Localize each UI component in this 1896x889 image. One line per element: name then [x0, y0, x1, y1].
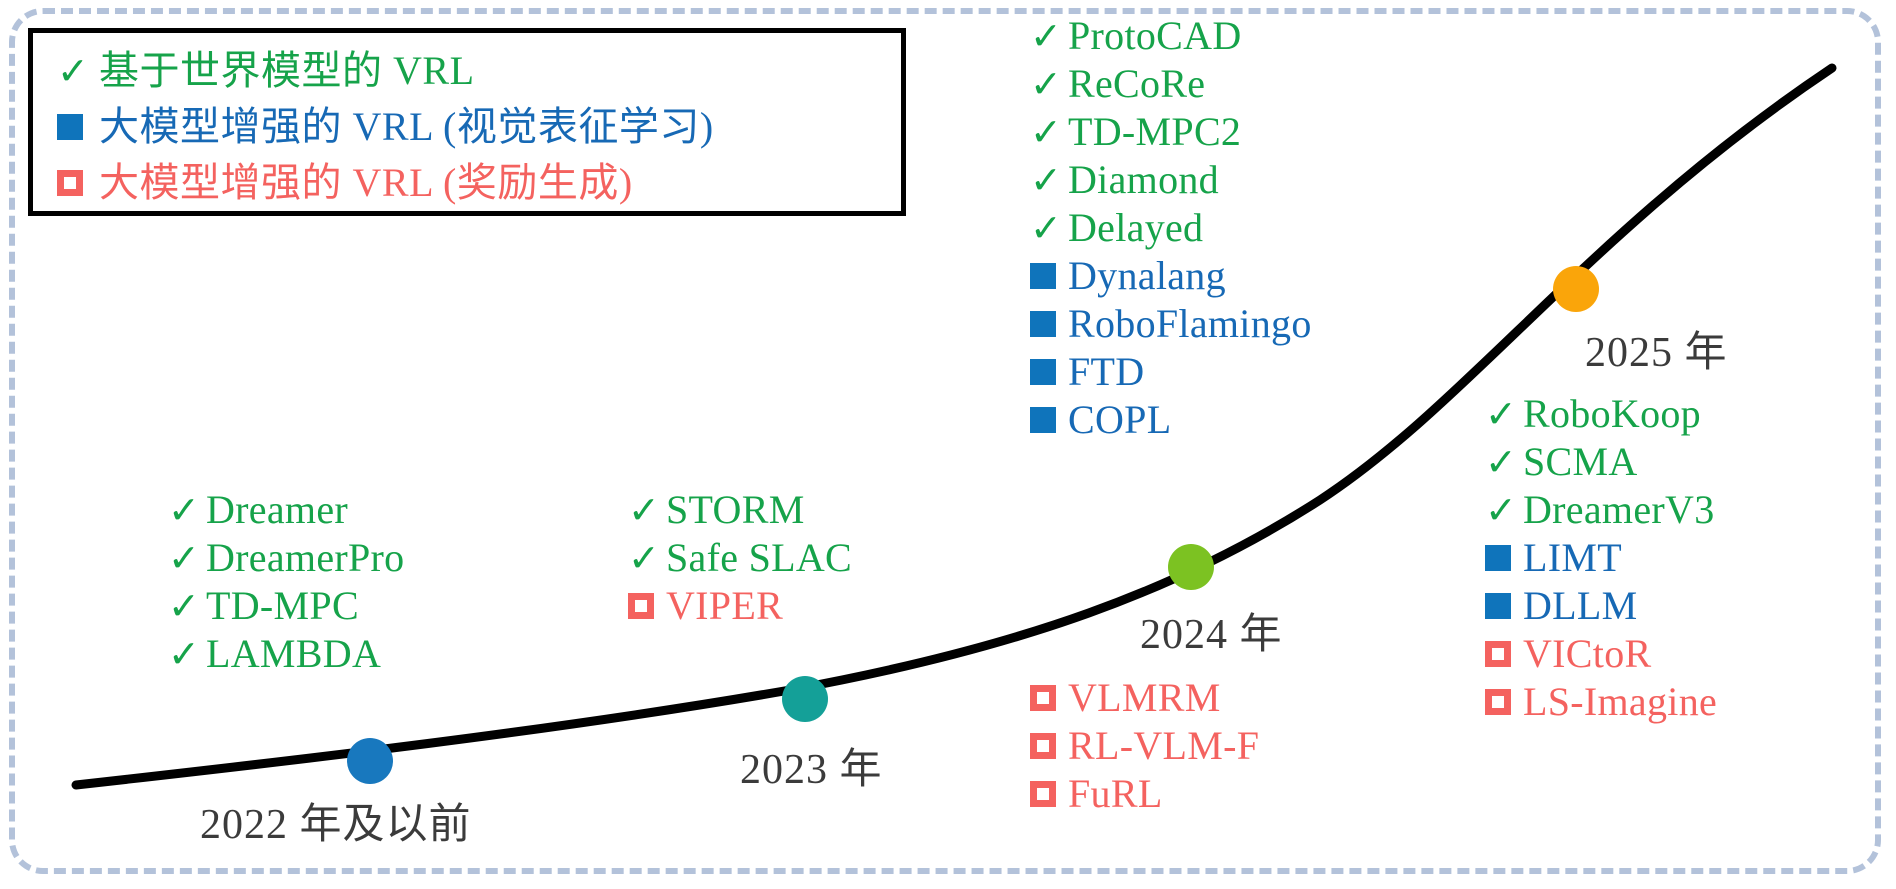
check-icon: ✓ — [628, 539, 666, 577]
timeline-item: ✓Delayed — [1030, 204, 1312, 252]
check-icon: ✓ — [1030, 209, 1068, 247]
timeline-item-label: Safe SLAC — [666, 538, 852, 578]
legend-row-reward-generation: 大模型增强的 VRL (奖励生成) — [57, 155, 901, 211]
check-icon: ✓ — [1030, 113, 1068, 151]
year-label-2024: 2024 年 — [1140, 600, 1283, 661]
timeline-item: VLMRM — [1030, 674, 1259, 722]
timeline-item-label: COPL — [1068, 400, 1171, 440]
timeline-item-label: VICtoR — [1523, 634, 1651, 674]
timeline-item-label: TD-MPC — [206, 586, 359, 626]
filled-square-icon — [1030, 263, 1068, 289]
timeline-item-label: ProtoCAD — [1068, 16, 1242, 56]
filled-square-icon — [1485, 545, 1523, 571]
check-icon: ✓ — [1485, 443, 1523, 481]
check-icon: ✓ — [1030, 161, 1068, 199]
timeline-item: Dynalang — [1030, 252, 1312, 300]
timeline-item: RoboFlamingo — [1030, 300, 1312, 348]
open-square-icon — [1485, 641, 1523, 667]
year-dot-2023 — [782, 676, 828, 722]
legend-label-visual-representation: 大模型增强的 VRL (视觉表征学习) — [99, 107, 714, 147]
timeline-item-label: Diamond — [1068, 160, 1219, 200]
group-2025-items: ✓RoboKoop✓SCMA✓DreamerV3LIMTDLLMVICtoRLS… — [1485, 390, 1717, 726]
timeline-item: FTD — [1030, 348, 1312, 396]
check-icon: ✓ — [168, 587, 206, 625]
timeline-item: ✓Safe SLAC — [628, 534, 852, 582]
filled-square-icon — [57, 107, 99, 147]
timeline-item: ✓SCMA — [1485, 438, 1717, 486]
group-2024-items-upper: ✓ProtoCAD✓ReCoRe✓TD-MPC2✓Diamond✓Delayed… — [1030, 12, 1312, 444]
timeline-item-label: VLMRM — [1068, 678, 1221, 718]
open-square-icon — [1030, 685, 1068, 711]
timeline-item: ✓RoboKoop — [1485, 390, 1717, 438]
timeline-item-label: Dreamer — [206, 490, 348, 530]
timeline-item-label: FTD — [1068, 352, 1144, 392]
timeline-item-label: RoboKoop — [1523, 394, 1701, 434]
open-square-icon — [628, 593, 666, 619]
check-icon: ✓ — [1030, 17, 1068, 55]
timeline-item-label: TD-MPC2 — [1068, 112, 1241, 152]
year-dot-2024 — [1168, 544, 1214, 590]
legend-row-visual-representation: 大模型增强的 VRL (视觉表征学习) — [57, 99, 901, 155]
check-icon: ✓ — [168, 539, 206, 577]
timeline-item: ✓TD-MPC — [168, 582, 404, 630]
timeline-diagram: ✓ 基于世界模型的 VRL 大模型增强的 VRL (视觉表征学习) 大模型增强的… — [0, 0, 1896, 889]
open-square-icon — [1485, 689, 1523, 715]
timeline-item: ✓DreamerPro — [168, 534, 404, 582]
year-dot-2022 — [347, 738, 393, 784]
filled-square-icon — [1485, 593, 1523, 619]
legend-label-reward-generation: 大模型增强的 VRL (奖励生成) — [99, 163, 633, 203]
legend-row-world-model: ✓ 基于世界模型的 VRL — [57, 43, 901, 99]
timeline-item: COPL — [1030, 396, 1312, 444]
filled-square-icon — [1030, 359, 1068, 385]
timeline-item-label: RL-VLM-F — [1068, 726, 1259, 766]
timeline-item-label: Dynalang — [1068, 256, 1226, 296]
group-2024-items-lower: VLMRMRL-VLM-FFuRL — [1030, 674, 1259, 818]
filled-square-icon — [1030, 311, 1068, 337]
group-2022-items: ✓Dreamer✓DreamerPro✓TD-MPC✓LAMBDA — [168, 486, 404, 678]
timeline-item-label: ReCoRe — [1068, 64, 1205, 104]
timeline-item-label: FuRL — [1068, 774, 1163, 814]
timeline-item-label: LIMT — [1523, 538, 1622, 578]
timeline-item: ✓STORM — [628, 486, 852, 534]
timeline-item: LS-Imagine — [1485, 678, 1717, 726]
timeline-item: ✓DreamerV3 — [1485, 486, 1717, 534]
timeline-item-label: Delayed — [1068, 208, 1203, 248]
timeline-item-label: LS-Imagine — [1523, 682, 1717, 722]
timeline-item-label: DreamerV3 — [1523, 490, 1715, 530]
check-icon: ✓ — [1485, 395, 1523, 433]
timeline-item: VICtoR — [1485, 630, 1717, 678]
timeline-item: ✓LAMBDA — [168, 630, 404, 678]
year-label-2023: 2023 年 — [740, 735, 883, 796]
timeline-item: ✓Diamond — [1030, 156, 1312, 204]
timeline-item: ✓ReCoRe — [1030, 60, 1312, 108]
timeline-item: LIMT — [1485, 534, 1717, 582]
group-2023-items: ✓STORM✓Safe SLACVIPER — [628, 486, 852, 630]
timeline-item-label: DreamerPro — [206, 538, 404, 578]
timeline-item-label: STORM — [666, 490, 805, 530]
legend-label-world-model: 基于世界模型的 VRL — [99, 51, 475, 91]
legend-box: ✓ 基于世界模型的 VRL 大模型增强的 VRL (视觉表征学习) 大模型增强的… — [28, 28, 906, 216]
timeline-item: FuRL — [1030, 770, 1259, 818]
timeline-item-label: DLLM — [1523, 586, 1638, 626]
timeline-item: ✓TD-MPC2 — [1030, 108, 1312, 156]
timeline-item: ✓ProtoCAD — [1030, 12, 1312, 60]
timeline-item-label: LAMBDA — [206, 634, 381, 674]
open-square-icon — [57, 163, 99, 203]
timeline-item-label: VIPER — [666, 586, 783, 626]
check-icon: ✓ — [1485, 491, 1523, 529]
timeline-item-label: SCMA — [1523, 442, 1638, 482]
open-square-icon — [1030, 781, 1068, 807]
check-icon: ✓ — [168, 635, 206, 673]
timeline-item: RL-VLM-F — [1030, 722, 1259, 770]
check-icon: ✓ — [628, 491, 666, 529]
filled-square-icon — [1030, 407, 1068, 433]
year-dot-2025 — [1553, 266, 1599, 312]
check-icon: ✓ — [1030, 65, 1068, 103]
timeline-item: ✓Dreamer — [168, 486, 404, 534]
year-label-2022: 2022 年及以前 — [200, 790, 472, 851]
check-icon: ✓ — [168, 491, 206, 529]
check-icon: ✓ — [57, 51, 99, 91]
open-square-icon — [1030, 733, 1068, 759]
timeline-item: DLLM — [1485, 582, 1717, 630]
timeline-item: VIPER — [628, 582, 852, 630]
year-label-2025: 2025 年 — [1585, 318, 1728, 379]
timeline-item-label: RoboFlamingo — [1068, 304, 1312, 344]
